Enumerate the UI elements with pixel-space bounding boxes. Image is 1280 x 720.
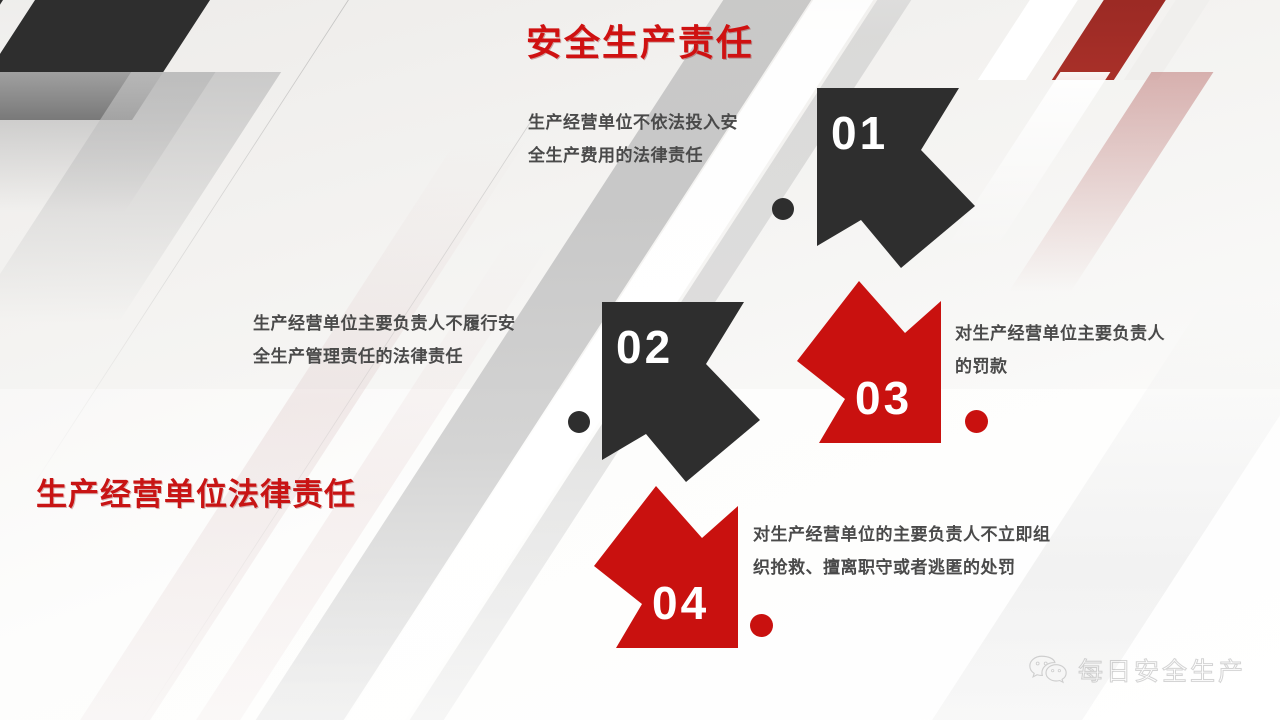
arrow-down-right-icon: [809, 88, 984, 268]
item-text-04: 对生产经营单位的主要负责人不立即组 织抢救、擅离职守或者逃匿的处罚: [753, 518, 1133, 584]
bullet-dot-01: [772, 198, 794, 220]
slide-canvas: 安全生产责任 生产经营单位法律责任 01 生产经营单位不依法投入安 全生产费用的…: [0, 0, 1280, 720]
marker-02[interactable]: 02: [594, 302, 769, 482]
page-title: 安全生产责任: [0, 14, 1280, 66]
item-text-01: 生产经营单位不依法投入安 全生产费用的法律责任: [528, 106, 798, 172]
bullet-dot-04: [750, 614, 773, 637]
bullet-dot-03: [965, 410, 988, 433]
arrow-down-left-icon: [594, 486, 746, 648]
marker-01[interactable]: 01: [809, 88, 984, 268]
item-text-02: 生产经营单位主要负责人不履行安 全生产管理责任的法律责任: [253, 307, 583, 373]
arrow-down-right-icon: [594, 302, 769, 482]
watermark-text: 每日安全生产: [1078, 652, 1246, 688]
watermark: 每日安全生产: [1028, 652, 1246, 688]
item-text-03: 对生产经营单位主要负责人 的罚款: [955, 317, 1235, 383]
wechat-icon: [1028, 653, 1068, 687]
marker-04[interactable]: 04: [594, 486, 746, 648]
arrow-down-left-icon: [797, 281, 949, 443]
bullet-dot-02: [568, 411, 590, 433]
marker-03[interactable]: 03: [797, 281, 949, 443]
section-heading: 生产经营单位法律责任: [36, 469, 356, 514]
